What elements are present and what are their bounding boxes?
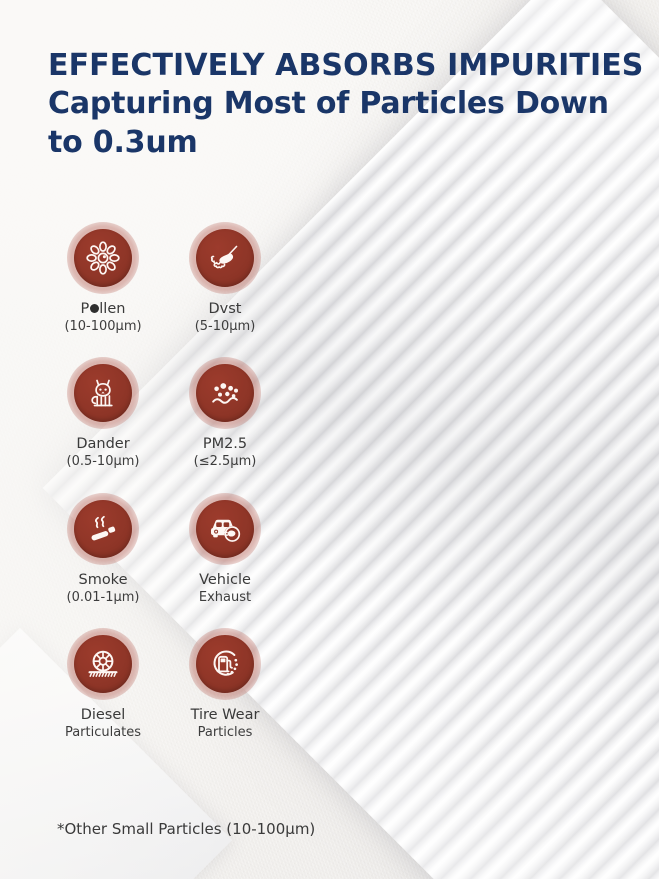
badge-dust <box>189 222 261 294</box>
badge-vehicle-exhaust <box>189 493 261 565</box>
particle-item-vehicle-exhaust: Vehicle Exhaust <box>164 493 286 606</box>
particle-label-tire-wear: Tire Wear <box>191 707 260 724</box>
particle-size-dander: (0.5-10µm) <box>67 454 140 470</box>
particle-row: Smoke (0.01-1µm) <box>42 493 292 606</box>
particle-item-smoke: Smoke (0.01-1µm) <box>42 493 164 606</box>
particle-label-diesel-particulates: Diesel <box>81 707 126 724</box>
vehicle-exhaust-icon <box>196 500 254 558</box>
particle-item-dander: Dander (0.5-10µm) <box>42 357 164 470</box>
particle-size-smoke: (0.01-1µm) <box>67 590 140 606</box>
badge-pm25 <box>189 357 261 429</box>
particle-sub-diesel-particulates: Particulates <box>65 725 141 741</box>
particle-item-tire-wear: Tire Wear Particles <box>164 628 286 741</box>
particle-size-dust: (5-10µm) <box>195 319 256 335</box>
particle-item-dust: Dvst (5-10µm) <box>164 222 286 335</box>
badge-pollen <box>67 222 139 294</box>
particle-size-pm25: (≤2.5µm) <box>194 454 257 470</box>
product-feature-poster: EFFECTIVELY ABSORBS IMPURITIES Capturing… <box>0 0 659 879</box>
particle-label-dander: Dander <box>76 436 129 453</box>
footnote-other-particles: *Other Small Particles (10-100µm) <box>57 820 315 838</box>
badge-diesel-particulates <box>67 628 139 700</box>
particle-icon-grid: Pllen (10-100µm) <box>42 222 292 763</box>
particle-label-dust: Dvst <box>209 301 242 318</box>
particle-item-pollen: Pllen (10-100µm) <box>42 222 164 335</box>
page-title: EFFECTIVELY ABSORBS IMPURITIES Capturing… <box>48 50 644 162</box>
particle-label-smoke: Smoke <box>78 572 127 589</box>
particle-sub-tire-wear: Particles <box>198 725 253 741</box>
particle-row: Diesel Particulates <box>42 628 292 741</box>
particle-item-diesel-particulates: Diesel Particulates <box>42 628 164 741</box>
particle-label-vehicle-exhaust: Vehicle <box>199 572 251 589</box>
headline-secondary: Capturing Most of Particles Down to 0.3u… <box>48 85 638 162</box>
badge-smoke <box>67 493 139 565</box>
particle-sub-vehicle-exhaust: Exhaust <box>199 590 251 606</box>
tire-road-icon <box>74 635 132 693</box>
particle-row: Dander (0.5-10µm) <box>42 357 292 470</box>
pm25-particles-icon <box>196 364 254 422</box>
dust-brush-icon <box>196 229 254 287</box>
fuel-pump-icon <box>196 635 254 693</box>
filled-o-glyph <box>90 304 99 313</box>
particle-label-pm25: PM2.5 <box>203 436 247 453</box>
flower-pollen-icon <box>74 229 132 287</box>
pet-dander-icon <box>74 364 132 422</box>
particle-label-pollen: Pllen <box>81 301 126 318</box>
badge-tire-wear <box>189 628 261 700</box>
particle-item-pm25: PM2.5 (≤2.5µm) <box>164 357 286 470</box>
cigarette-smoke-icon <box>74 500 132 558</box>
headline-primary: EFFECTIVELY ABSORBS IMPURITIES <box>48 50 644 82</box>
particle-size-pollen: (10-100µm) <box>64 319 141 335</box>
particle-row: Pllen (10-100µm) <box>42 222 292 335</box>
badge-dander <box>67 357 139 429</box>
